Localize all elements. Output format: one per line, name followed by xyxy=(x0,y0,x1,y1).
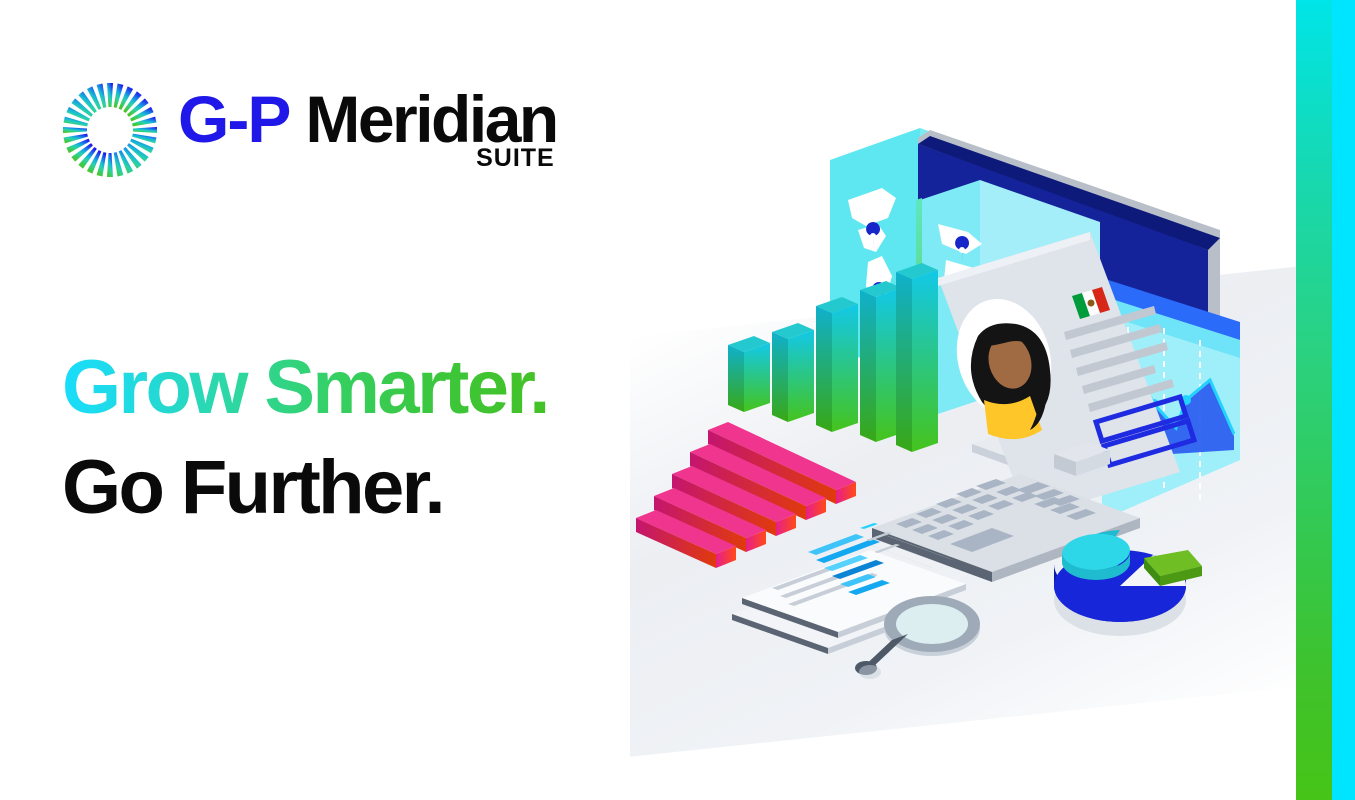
radial-burst-logo-icon xyxy=(60,80,160,180)
gp-logotype: G-P xyxy=(178,86,289,152)
headline-block: Grow Smarter. Go Further. xyxy=(62,338,548,539)
headline-line-2: Go Further. xyxy=(62,438,548,538)
product-tier: SUITE xyxy=(476,144,555,173)
illustration-svg xyxy=(620,100,1320,720)
edge-gradient-bar-cyan xyxy=(1332,0,1355,800)
brand-logo[interactable]: G-P Meridian SUITE xyxy=(60,80,557,180)
edge-gradient-bar-green xyxy=(1296,0,1332,800)
headline-line-1: Grow Smarter. xyxy=(62,338,548,438)
banner-canvas: G-P Meridian SUITE Grow Smarter. Go Furt… xyxy=(0,0,1355,800)
brand-wordmark: G-P Meridian SUITE xyxy=(178,80,557,152)
pie-chart-3d xyxy=(1054,530,1202,636)
product-name: Meridian xyxy=(305,86,556,152)
isometric-analytics-illustration xyxy=(620,100,1320,720)
horizontal-bar-chart-3d xyxy=(636,422,856,568)
